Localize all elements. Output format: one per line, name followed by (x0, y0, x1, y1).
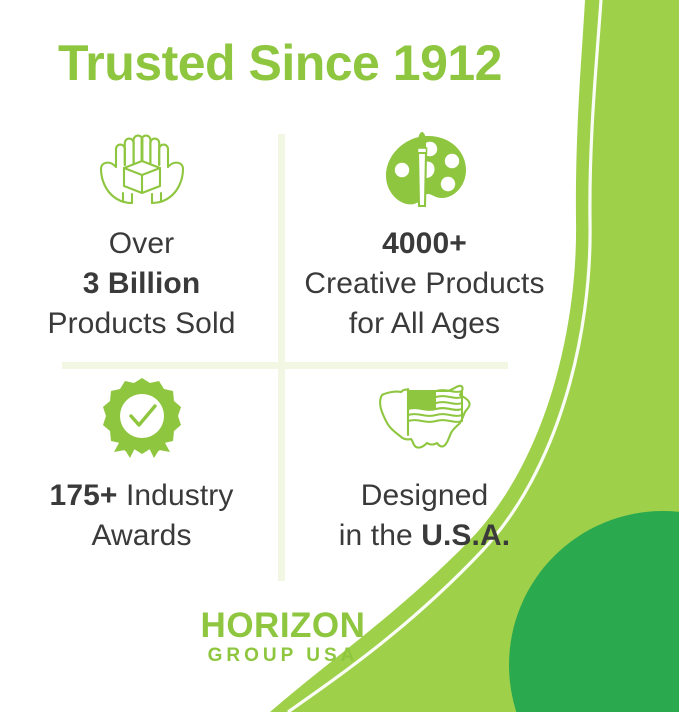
feature-line-emphasis: U.S.A. (421, 519, 510, 552)
feature-label-industry-awards: 175+ Industry Awards (0, 476, 283, 556)
feature-line: Designed (283, 476, 566, 516)
brand-logo-name: HORIZON (0, 608, 566, 644)
feature-line: Over (0, 224, 283, 264)
feature-line: 175+ Industry (0, 476, 283, 516)
feature-item-industry-awards: 175+ Industry Awards (0, 376, 283, 556)
feature-line-rest: Industry (118, 479, 234, 512)
feature-item-designed-in-usa: Designed in the U.S.A. (283, 376, 566, 556)
palette-well (444, 154, 458, 168)
feature-line-rest: in the (339, 519, 421, 552)
feature-grid: Over 3 Billion Products Sold (0, 128, 566, 578)
feature-line: Products Sold (0, 304, 283, 344)
feature-line: Awards (0, 516, 283, 556)
paint-brush (417, 132, 426, 206)
feature-line-emphasis: 3 Billion (0, 264, 283, 304)
feature-label-products-sold: Over 3 Billion Products Sold (0, 224, 283, 344)
brand-logo-tagline: GROUP USA (0, 645, 566, 667)
feature-label-creative-products: 4000+ Creative Products for All Ages (283, 224, 566, 344)
feature-line: Creative Products (283, 264, 566, 304)
usa-map-flag-icon (283, 376, 566, 462)
award-ribbon-check-icon (0, 376, 283, 462)
feature-item-products-sold: Over 3 Billion Products Sold (0, 128, 283, 344)
feature-line: for All Ages (283, 304, 566, 344)
palette-well (394, 163, 408, 177)
page-title: Trusted Since 1912 (0, 34, 560, 92)
flag-canton (408, 390, 436, 410)
infographic-canvas: Trusted Since 1912 (0, 0, 679, 712)
feature-label-designed-in-usa: Designed in the U.S.A. (283, 476, 566, 556)
rosette-inner (120, 394, 164, 438)
feature-line: in the U.S.A. (283, 516, 566, 556)
palette-well (440, 177, 454, 191)
brand-logo: HORIZON GROUP USA (0, 608, 566, 667)
paint-palette-brush-icon (283, 128, 566, 214)
feature-line-emphasis: 4000+ (283, 224, 566, 264)
feature-item-creative-products: 4000+ Creative Products for All Ages (283, 128, 566, 344)
hands-holding-box-icon (0, 128, 283, 214)
feature-line-emphasis: 175+ (50, 479, 118, 512)
